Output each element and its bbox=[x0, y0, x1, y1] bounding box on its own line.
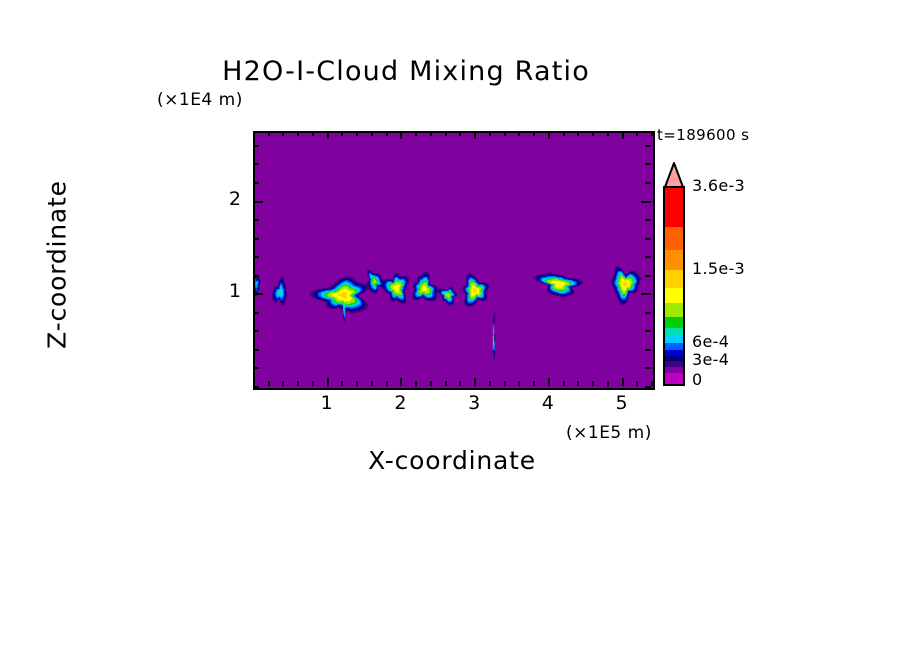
x-minor-tick-top bbox=[371, 131, 373, 136]
y-minor-tick bbox=[253, 312, 259, 314]
x-minor-tick-top bbox=[282, 131, 284, 136]
x-minor-tick bbox=[282, 381, 284, 386]
x-major-tick-top bbox=[474, 131, 476, 139]
x-minor-tick-top bbox=[607, 131, 609, 136]
x-major-tick-top bbox=[548, 131, 550, 139]
colorbar-overflow-arrow-icon bbox=[663, 162, 685, 188]
x-minor-tick-top bbox=[636, 131, 638, 136]
x-tick-label: 2 bbox=[380, 392, 420, 414]
colorbar-band bbox=[665, 303, 683, 318]
y-minor-tick-right bbox=[645, 367, 651, 369]
y-minor-tick bbox=[253, 163, 259, 165]
colorbar-band bbox=[665, 361, 683, 367]
y-minor-tick-right bbox=[645, 349, 651, 351]
x-minor-tick-top bbox=[577, 131, 579, 136]
x-minor-tick bbox=[445, 381, 447, 386]
plot-area bbox=[253, 131, 655, 390]
colorbar-band bbox=[665, 288, 683, 303]
x-tick-label: 5 bbox=[602, 392, 642, 414]
y-minor-tick bbox=[253, 275, 259, 277]
contour-field-canvas bbox=[255, 133, 653, 388]
y-minor-tick bbox=[253, 330, 259, 332]
y-minor-tick bbox=[253, 145, 259, 147]
x-minor-tick-top bbox=[430, 131, 432, 136]
x-major-tick bbox=[474, 378, 476, 386]
x-minor-tick bbox=[268, 381, 270, 386]
x-major-tick-top bbox=[400, 131, 402, 139]
x-minor-tick-top bbox=[563, 131, 565, 136]
x-minor-tick-top bbox=[312, 131, 314, 136]
y-major-tick bbox=[253, 293, 263, 295]
x-minor-tick bbox=[607, 381, 609, 386]
y-major-tick-right bbox=[641, 201, 651, 203]
y-minor-tick-right bbox=[645, 163, 651, 165]
colorbar-band bbox=[665, 373, 683, 384]
x-minor-tick bbox=[459, 381, 461, 386]
colorbar-band bbox=[665, 227, 683, 250]
x-minor-tick bbox=[297, 381, 299, 386]
y-minor-tick bbox=[253, 182, 259, 184]
page-title: H2O-I-Cloud Mixing Ratio bbox=[0, 56, 858, 87]
x-minor-tick-top bbox=[297, 131, 299, 136]
y-major-tick bbox=[253, 201, 263, 203]
colorbar-band bbox=[665, 270, 683, 288]
colorbar-band bbox=[665, 350, 683, 356]
y-minor-tick-right bbox=[645, 219, 651, 221]
colorbar-band bbox=[665, 356, 683, 362]
y-major-tick-right bbox=[641, 293, 651, 295]
x-major-tick bbox=[622, 378, 624, 386]
x-minor-tick bbox=[386, 381, 388, 386]
y-minor-tick-right bbox=[645, 182, 651, 184]
x-minor-tick bbox=[415, 381, 417, 386]
x-minor-tick-top bbox=[459, 131, 461, 136]
colorbar-tick-label: 3.6e-3 bbox=[692, 176, 745, 195]
colorbar bbox=[663, 186, 685, 386]
x-minor-tick-top bbox=[415, 131, 417, 136]
x-minor-tick-top bbox=[504, 131, 506, 136]
x-minor-tick-top bbox=[592, 131, 594, 136]
y-minor-tick bbox=[253, 219, 259, 221]
x-tick-label: 1 bbox=[307, 392, 347, 414]
x-major-tick bbox=[400, 378, 402, 386]
x-major-tick bbox=[327, 378, 329, 386]
y-tick-label: 2 bbox=[211, 188, 241, 210]
x-minor-tick bbox=[533, 381, 535, 386]
x-tick-label: 3 bbox=[454, 392, 494, 414]
x-minor-tick bbox=[592, 381, 594, 386]
contour-plot-figure: H2O-I-Cloud Mixing Ratio (×1E4 m) (×1E5 … bbox=[0, 0, 904, 654]
x-minor-tick-top bbox=[268, 131, 270, 136]
y-minor-tick bbox=[253, 367, 259, 369]
y-axis-title: Z-coordinate bbox=[43, 135, 72, 395]
y-tick-label: 1 bbox=[211, 280, 241, 302]
y-minor-tick-right bbox=[645, 275, 651, 277]
x-minor-tick-top bbox=[341, 131, 343, 136]
x-major-tick-top bbox=[327, 131, 329, 139]
colorbar-tick-label: 0 bbox=[692, 370, 702, 389]
x-major-tick-top bbox=[622, 131, 624, 139]
colorbar-tick-label: 6e-4 bbox=[692, 332, 729, 351]
x-minor-tick-top bbox=[386, 131, 388, 136]
x-minor-tick bbox=[518, 381, 520, 386]
y-minor-tick bbox=[253, 349, 259, 351]
x-major-tick bbox=[548, 378, 550, 386]
x-minor-tick bbox=[577, 381, 579, 386]
colorbar-band bbox=[665, 367, 683, 373]
y-minor-tick-right bbox=[645, 386, 651, 388]
colorbar-band bbox=[665, 328, 683, 336]
colorbar-band bbox=[665, 317, 683, 328]
y-minor-tick-right bbox=[645, 256, 651, 258]
x-tick-label: 4 bbox=[528, 392, 568, 414]
y-minor-tick-right bbox=[645, 330, 651, 332]
y-minor-tick bbox=[253, 256, 259, 258]
colorbar-band bbox=[665, 250, 683, 271]
x-axis-title: X-coordinate bbox=[253, 446, 651, 475]
y-minor-tick-right bbox=[645, 145, 651, 147]
colorbar-band bbox=[665, 188, 683, 227]
x-minor-tick-top bbox=[651, 131, 653, 136]
y-minor-tick bbox=[253, 238, 259, 240]
x-minor-tick-top bbox=[445, 131, 447, 136]
colorbar-band bbox=[665, 336, 683, 343]
colorbar-band bbox=[665, 343, 683, 350]
x-minor-tick bbox=[504, 381, 506, 386]
x-minor-tick bbox=[371, 381, 373, 386]
colorbar-tick-label: 3e-4 bbox=[692, 350, 729, 369]
y-minor-tick-right bbox=[645, 312, 651, 314]
x-minor-tick-top bbox=[518, 131, 520, 136]
x-minor-tick-top bbox=[489, 131, 491, 136]
x-minor-tick bbox=[563, 381, 565, 386]
y-minor-tick bbox=[253, 386, 259, 388]
x-minor-tick-top bbox=[533, 131, 535, 136]
x-minor-tick bbox=[651, 381, 653, 386]
x-minor-tick-top bbox=[356, 131, 358, 136]
timestamp-annotation: t=189600 s bbox=[657, 126, 749, 144]
y-minor-tick-right bbox=[645, 238, 651, 240]
x-minor-tick bbox=[489, 381, 491, 386]
colorbar-tick-label: 1.5e-3 bbox=[692, 259, 745, 278]
x-axis-multiplier-label: (×1E5 m) bbox=[566, 423, 652, 443]
x-minor-tick bbox=[341, 381, 343, 386]
x-minor-tick bbox=[430, 381, 432, 386]
x-minor-tick bbox=[636, 381, 638, 386]
x-minor-tick-top bbox=[253, 131, 255, 136]
x-minor-tick bbox=[312, 381, 314, 386]
y-axis-multiplier-label: (×1E4 m) bbox=[157, 90, 243, 110]
x-minor-tick bbox=[356, 381, 358, 386]
